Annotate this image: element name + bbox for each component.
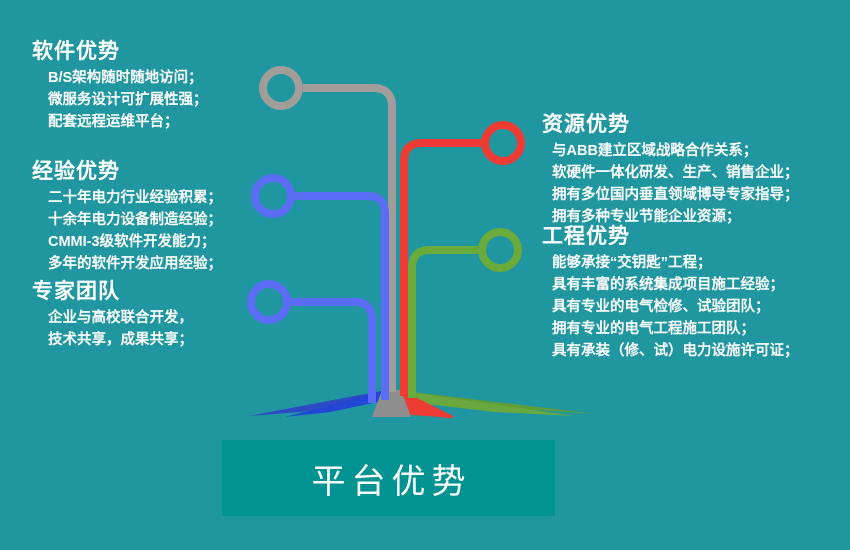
- root-red: [395, 391, 448, 418]
- group-resource-lines: 与ABB建立区域战略合作关系； 软硬件一体化研发、生产、销售企业； 拥有多位国内…: [530, 140, 799, 228]
- group-experience: 经验优势 二十年电力行业经验积累； 十余年电力设备制造经验； CMMI-3级软件…: [22, 160, 222, 275]
- root-red-wedge-main: [393, 392, 453, 418]
- branch-red-resource: [404, 125, 521, 396]
- root-blue-inner: [285, 391, 388, 417]
- list-item: CMMI-3级软件开发能力；: [48, 231, 222, 253]
- root-red-final: [393, 390, 453, 417]
- list-item: 微服务设计可扩展性强；: [48, 89, 208, 111]
- group-expert-title: 专家团队: [22, 280, 193, 303]
- list-item: 多年的软件开发应用经验；: [48, 253, 222, 275]
- root-red-broad: [394, 390, 453, 418]
- root-green-inner: [399, 391, 575, 416]
- branch-green-engineering: [412, 232, 518, 398]
- infographic-canvas: 软件优势 B/S架构随时随地访问； 微服务设计可扩展性强； 配套远程运维平台； …: [0, 0, 850, 550]
- list-item: 配套远程运维平台；: [48, 111, 208, 133]
- root-red-main: [396, 390, 452, 417]
- root-red-fan: [397, 390, 455, 417]
- list-item: 拥有专业的电气工程施工团队；: [552, 318, 799, 340]
- platform-label: 平台优势: [306, 454, 472, 503]
- group-resource-title: 资源优势: [530, 113, 799, 136]
- root-blue-outer: [249, 391, 386, 416]
- node-experience: [255, 178, 291, 214]
- node-software: [263, 70, 299, 106]
- platform-box: 平台优势: [222, 440, 555, 516]
- list-item: 企业与高校联合开发，: [48, 307, 193, 329]
- root-green-outer: [400, 391, 597, 414]
- list-item: 软硬件一体化研发、生产、销售企业；: [552, 162, 799, 184]
- list-item: 技术共享，成果共享；: [48, 329, 193, 351]
- group-engineering-title: 工程优势: [530, 225, 799, 248]
- group-experience-title: 经验优势: [22, 160, 222, 183]
- group-expert-lines: 企业与高校联合开发， 技术共享，成果共享；: [22, 307, 193, 351]
- root-red-plate: [398, 391, 452, 417]
- node-resource: [485, 125, 521, 161]
- root-red-large: [393, 390, 452, 418]
- root-red-body: [399, 392, 451, 418]
- root-red-broad-wedge: [392, 391, 452, 418]
- list-item: 具有丰富的系统集成项目施工经验；: [552, 274, 799, 296]
- list-item: 具有专业的电气检修、试验团队；: [552, 296, 799, 318]
- group-engineering: 工程优势 能够承接“交钥匙”工程； 具有丰富的系统集成项目施工经验； 具有专业的…: [530, 225, 799, 362]
- list-item: 能够承接“交钥匙”工程；: [552, 252, 799, 274]
- group-software-title: 软件优势: [22, 40, 208, 63]
- trunk-base: [372, 390, 411, 417]
- branch-blue-expert: [251, 284, 372, 403]
- list-item: 与ABB建立区域战略合作关系；: [552, 140, 799, 162]
- root-fan: [249, 390, 597, 418]
- group-software-lines: B/S架构随时随地访问； 微服务设计可扩展性强； 配套远程运维平台；: [22, 67, 208, 133]
- node-expert: [251, 284, 287, 320]
- root-red-triangle: [391, 391, 453, 418]
- group-experience-lines: 二十年电力行业经验积累； 十余年电力设备制造经验； CMMI-3级软件开发能力；…: [22, 187, 222, 275]
- root-red-sweep: [394, 391, 450, 418]
- branch-gray: [263, 70, 392, 392]
- group-software: 软件优势 B/S架构随时随地访问； 微服务设计可扩展性强； 配套远程运维平台；: [22, 40, 208, 133]
- list-item: B/S架构随时随地访问；: [48, 67, 208, 89]
- root-red-wedge-2: [392, 391, 452, 418]
- list-item: 二十年电力行业经验积累；: [48, 187, 222, 209]
- group-resource: 资源优势 与ABB建立区域战略合作关系； 软硬件一体化研发、生产、销售企业； 拥…: [530, 113, 799, 228]
- list-item: 十余年电力设备制造经验；: [48, 209, 222, 231]
- root-red-wide: [393, 392, 449, 418]
- branch-blue-experience: [255, 178, 385, 400]
- node-engineering: [482, 232, 518, 268]
- list-item: 拥有多位国内垂直领域博导专家指导；: [552, 184, 799, 206]
- list-item: 具有承装（修、试）电力设施许可证；: [552, 340, 799, 362]
- group-engineering-lines: 能够承接“交钥匙”工程； 具有丰富的系统集成项目施工经验； 具有专业的电气检修、…: [530, 252, 799, 362]
- root-red-sector: [396, 391, 452, 418]
- group-expert: 专家团队 企业与高校联合开发， 技术共享，成果共享；: [22, 280, 193, 351]
